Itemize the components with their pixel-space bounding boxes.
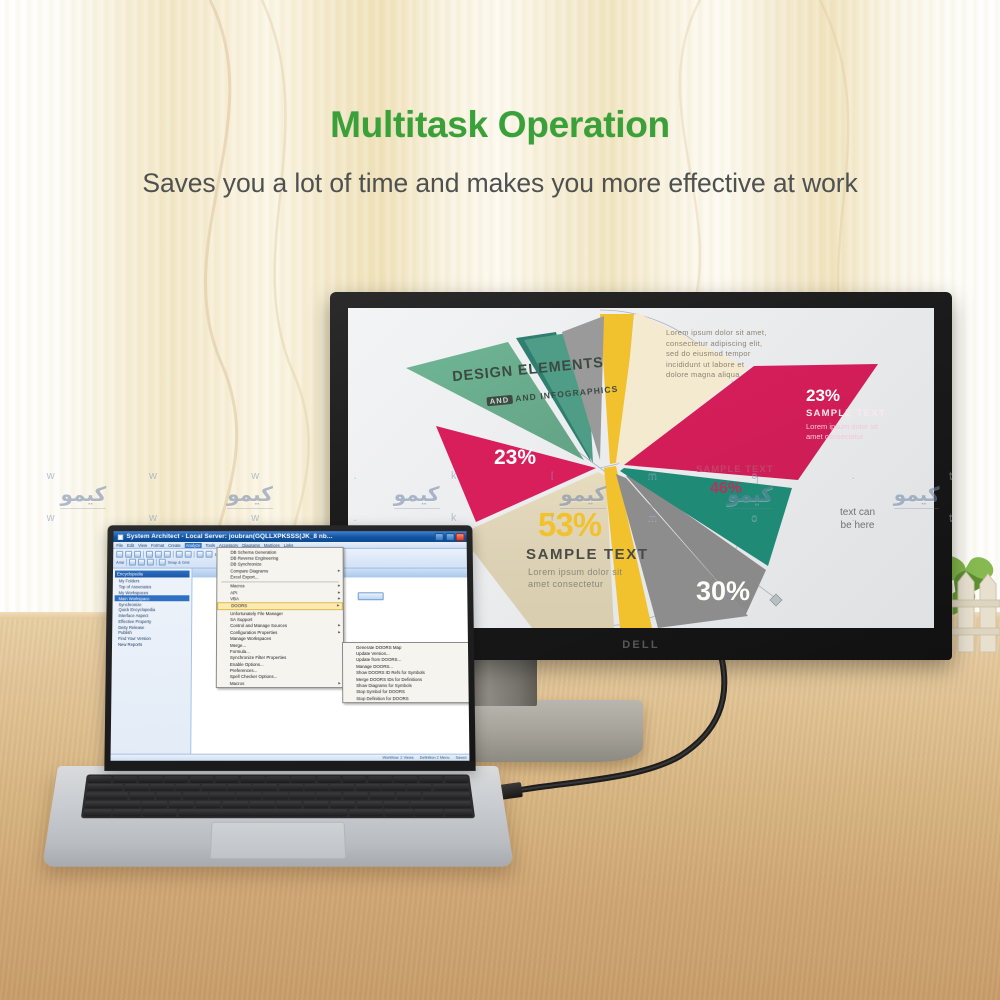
new-icon[interactable] — [116, 551, 123, 558]
laptop-trackpad[interactable] — [210, 822, 347, 859]
cut-icon[interactable] — [146, 551, 153, 558]
page-subtitle: Saves you a lot of time and makes you mo… — [0, 168, 1000, 199]
tree-header: Encyclopedia — [115, 571, 190, 578]
status-item: Workflow: 2 Views — [382, 756, 413, 760]
menu-tools[interactable]: Tools — [205, 542, 215, 547]
menu-create[interactable]: Create — [168, 542, 181, 547]
font-combo[interactable]: Arial — [116, 560, 124, 565]
laptop-lid-chin — [104, 761, 475, 771]
scene-root: Multitask Operation Saves you a lot of t… — [0, 0, 1000, 1000]
diagram-node[interactable] — [358, 592, 384, 600]
print-icon[interactable] — [197, 551, 204, 558]
system-architect-window[interactable]: ▣ System Architect - Local Server: joubr… — [111, 531, 470, 761]
window-title-text: System Architect - Local Server: joubran… — [126, 533, 332, 540]
menu-edit[interactable]: Edit — [127, 542, 134, 547]
tree-item[interactable]: New Reports — [114, 642, 189, 648]
menu-file[interactable]: File — [116, 542, 123, 547]
menu-format[interactable]: Format — [151, 542, 164, 547]
menu-item[interactable]: Macros — [217, 680, 343, 686]
snap-grid-label[interactable]: Snap & Grid — [168, 560, 190, 565]
zoom-in-icon[interactable] — [206, 551, 213, 558]
maximize-button[interactable] — [445, 533, 454, 541]
menu-item-doors-highlighted[interactable]: DOORS — [217, 602, 343, 610]
app-icon: ▣ — [117, 533, 123, 541]
redo-icon[interactable] — [185, 551, 192, 558]
paste-icon[interactable] — [164, 551, 171, 558]
open-icon[interactable] — [125, 551, 132, 558]
bold-icon[interactable] — [129, 559, 136, 566]
laptop-base — [42, 766, 514, 867]
dell-logo: DELL — [622, 639, 660, 651]
status-bar: Workflow: 2 Views Definition 2 Menu Save… — [111, 754, 470, 761]
laptop-screen[interactable]: ▣ System Architect - Local Server: joubr… — [111, 531, 470, 761]
dropdown-submenu-doors[interactable]: Generate DOORS Map Update Version... Upd… — [342, 642, 470, 704]
window-title-bar[interactable]: ▣ System Architect - Local Server: joubr… — [113, 531, 466, 542]
menu-analyze[interactable]: Analyze — [185, 542, 202, 547]
laptop-keyboard[interactable] — [81, 774, 475, 818]
laptop[interactable]: ▣ System Architect - Local Server: joubr… — [58, 524, 498, 904]
menu-item[interactable]: Excel Export... — [217, 574, 342, 580]
space-key — [178, 809, 348, 816]
status-item: Saved — [456, 756, 467, 760]
laptop-lid: ▣ System Architect - Local Server: joubr… — [104, 525, 475, 771]
window-controls[interactable] — [435, 533, 467, 541]
copy-icon[interactable] — [155, 551, 162, 558]
italic-icon[interactable] — [138, 559, 145, 566]
page-title: Multitask Operation — [0, 104, 1000, 146]
minimize-button[interactable] — [435, 533, 444, 541]
grid-icon[interactable] — [159, 559, 166, 566]
save-icon[interactable] — [134, 551, 141, 558]
menu-separator — [221, 581, 338, 582]
underline-icon[interactable] — [147, 559, 154, 566]
dropdown-menu-tools[interactable]: DB Schema Generation DB Reverse Engineer… — [216, 547, 344, 689]
menu-item[interactable]: Stop Definition for DOORS — [343, 695, 469, 701]
menu-view[interactable]: View — [138, 542, 147, 547]
undo-icon[interactable] — [176, 551, 183, 558]
status-item: Definition 2 Menu — [420, 756, 450, 760]
encyclopedia-tree[interactable]: Encyclopedia My Folders Top of Associate… — [111, 569, 193, 761]
close-button[interactable] — [456, 533, 465, 541]
